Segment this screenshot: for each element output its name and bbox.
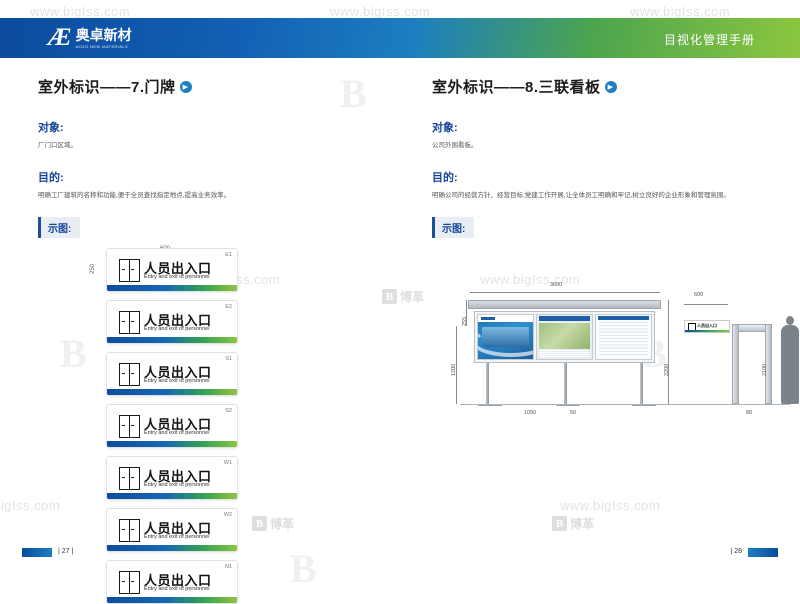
dim-base-gap: 50 <box>570 410 576 416</box>
small-sign-text: 人员出入口 <box>697 323 717 329</box>
play-icon: ▶ <box>180 81 192 93</box>
watermark-url: www.bigIss.com <box>630 4 730 19</box>
billboard-leg <box>564 363 567 404</box>
sign-card[interactable]: E2 人员出入口 Entry and exit of personnel <box>106 300 238 344</box>
billboard <box>472 300 657 392</box>
right-column: 室外标识——8.三联看板 ▶ 对象: 公司外围看板。 目的: 明确公司的经营方针… <box>432 58 792 464</box>
dim-board-height-line <box>456 326 457 404</box>
billboard-drawing: 3600 255 1200 2200 <box>432 264 792 464</box>
sign-card[interactable]: W2 人员出入口 Entry and exit of personnel <box>106 508 238 552</box>
panel-text-lines <box>540 350 589 357</box>
left-example-label: 示图: <box>38 217 80 238</box>
panel-title-bar <box>539 316 590 321</box>
gate-post-left <box>732 324 739 404</box>
panel-text-lines <box>599 322 648 356</box>
left-object-text: 厂门口区域。 <box>38 141 398 151</box>
door-icon <box>119 363 140 386</box>
door-icon <box>119 311 140 334</box>
dim-sign-width: 600 <box>694 292 703 298</box>
billboard-leg <box>486 363 489 404</box>
watermark-url: www.bigIss.com <box>30 4 130 19</box>
page-number-left: | 27 | <box>58 548 73 555</box>
billboard-leg <box>640 363 643 404</box>
dim-board-width: 3600 <box>550 282 562 288</box>
door-icon <box>119 259 140 282</box>
dim-base-width: 1050 <box>524 410 536 416</box>
dim-board-height-outer-line <box>668 300 669 404</box>
logo-mark: Æ <box>48 24 71 52</box>
billboard-panels <box>474 311 655 363</box>
door-icon <box>119 519 140 542</box>
billboard-panel-right <box>595 314 652 360</box>
footer-bar-right <box>748 548 778 557</box>
figure-head <box>786 316 794 325</box>
sign-code: E2 <box>225 304 232 310</box>
page-footer: | 27 | | 28 <box>0 548 800 562</box>
sign-code: S1 <box>225 356 232 362</box>
small-sign: 人员出入口 <box>684 320 728 333</box>
left-purpose-text: 明确工厂建筑的名称和功能,便于全员查找指定地点,提高业务效率。 <box>38 191 398 201</box>
left-section-title: 室外标识——7.门牌 ▶ <box>38 76 398 97</box>
dim-board-top: 255 <box>462 316 468 325</box>
right-object-text: 公司外围看板。 <box>432 141 792 151</box>
sign-text-en: Entry and exit of personnel <box>144 534 209 540</box>
billboard-panel-center <box>536 314 593 360</box>
sign-stripe <box>107 493 237 499</box>
sign-code: W2 <box>224 512 232 518</box>
dim-board-top-line <box>466 300 467 326</box>
right-example-label: 示图: <box>432 217 474 238</box>
left-column: 室外标识——7.门牌 ▶ 对象: 厂门口区域。 目的: 明确工厂建筑的名称和功能… <box>38 58 398 604</box>
small-sign-stripe <box>685 330 729 332</box>
dimension-height: 250 <box>90 263 96 273</box>
sign-text-en: Entry and exit of personnel <box>144 430 209 436</box>
sign-text-en: Entry and exit of personnel <box>144 378 209 384</box>
sign-card[interactable]: S1 人员出入口 Entry and exit of personnel <box>106 352 238 396</box>
company-logo: Æ 奥卓新材 AOZO NEW MATERIALS <box>48 24 132 52</box>
figure-body <box>781 325 799 404</box>
sign-text-en: Entry and exit of personnel <box>144 274 209 280</box>
play-icon: ▶ <box>605 81 617 93</box>
human-scale-figure <box>777 316 800 404</box>
sign-card[interactable]: S2 人员出入口 Entry and exit of personnel <box>106 404 238 448</box>
sign-stripe <box>107 285 237 291</box>
right-section-title: 室外标识——8.三联看板 ▶ <box>432 76 792 97</box>
right-purpose-label: 目的: <box>432 169 792 185</box>
dim-board-height-outer: 2200 <box>664 363 670 375</box>
door-icon <box>119 415 140 438</box>
left-section-title-text: 室外标识——7.门牌 <box>38 76 176 97</box>
panel-map <box>539 323 590 349</box>
sign-stripe <box>107 337 237 343</box>
sign-code: S2 <box>225 408 232 414</box>
sign-text-en: Entry and exit of personnel <box>144 482 209 488</box>
sign-stripe <box>107 389 237 395</box>
billboard-panel-left <box>477 314 534 360</box>
sign-code: N1 <box>225 564 232 570</box>
door-icon <box>119 571 140 594</box>
left-purpose-label: 目的: <box>38 169 398 185</box>
sign-card[interactable]: N1 人员出入口 Entry and exit of personnel <box>106 560 238 604</box>
logo-name-en: AOZO NEW MATERIALS <box>76 44 132 49</box>
sign-card[interactable]: W1 人员出入口 Entry and exit of personnel <box>106 456 238 500</box>
billboard-roof <box>468 300 661 309</box>
watermark-url: www.bigIss.com <box>330 4 430 19</box>
panel-header <box>478 315 533 322</box>
logo-name-cn: 奥卓新材 <box>76 28 132 42</box>
sign-text-en: Entry and exit of personnel <box>144 586 209 592</box>
footer-bar-left <box>22 548 52 557</box>
page-number-right: | 28 <box>730 548 742 555</box>
document-title: 目视化管理手册 <box>664 31 755 48</box>
page-header: Æ 奥卓新材 AOZO NEW MATERIALS 目视化管理手册 <box>0 18 800 58</box>
left-object-label: 对象: <box>38 119 398 135</box>
sign-stripe <box>107 441 237 447</box>
sign-code: W1 <box>224 460 232 466</box>
ground-line <box>460 404 790 405</box>
dim-sign-width-line <box>684 304 728 305</box>
dim-gate-height: 2100 <box>762 363 768 375</box>
sign-code: E1 <box>225 252 232 258</box>
small-sign-box: 人员出入口 <box>684 320 730 333</box>
sign-card[interactable]: E1 人员出入口 Entry and exit of personnel <box>106 248 238 292</box>
dim-board-width-line <box>470 292 660 293</box>
panel-title-bar <box>598 316 649 320</box>
right-purpose-text: 明确公司的经营方针、经营目标;党建工作开展,让全体员工明确和牢记,树立良好的企业… <box>432 191 792 201</box>
page-body: 室外标识——7.门牌 ▶ 对象: 厂门口区域。 目的: 明确工厂建筑的名称和功能… <box>0 58 800 538</box>
panel-swoosh <box>477 327 534 357</box>
door-icon <box>119 467 140 490</box>
right-object-label: 对象: <box>432 119 792 135</box>
right-section-title-text: 室外标识——8.三联看板 <box>432 76 601 97</box>
dim-gate-depth: 80 <box>746 410 752 416</box>
sign-text-en: Entry and exit of personnel <box>144 326 209 332</box>
